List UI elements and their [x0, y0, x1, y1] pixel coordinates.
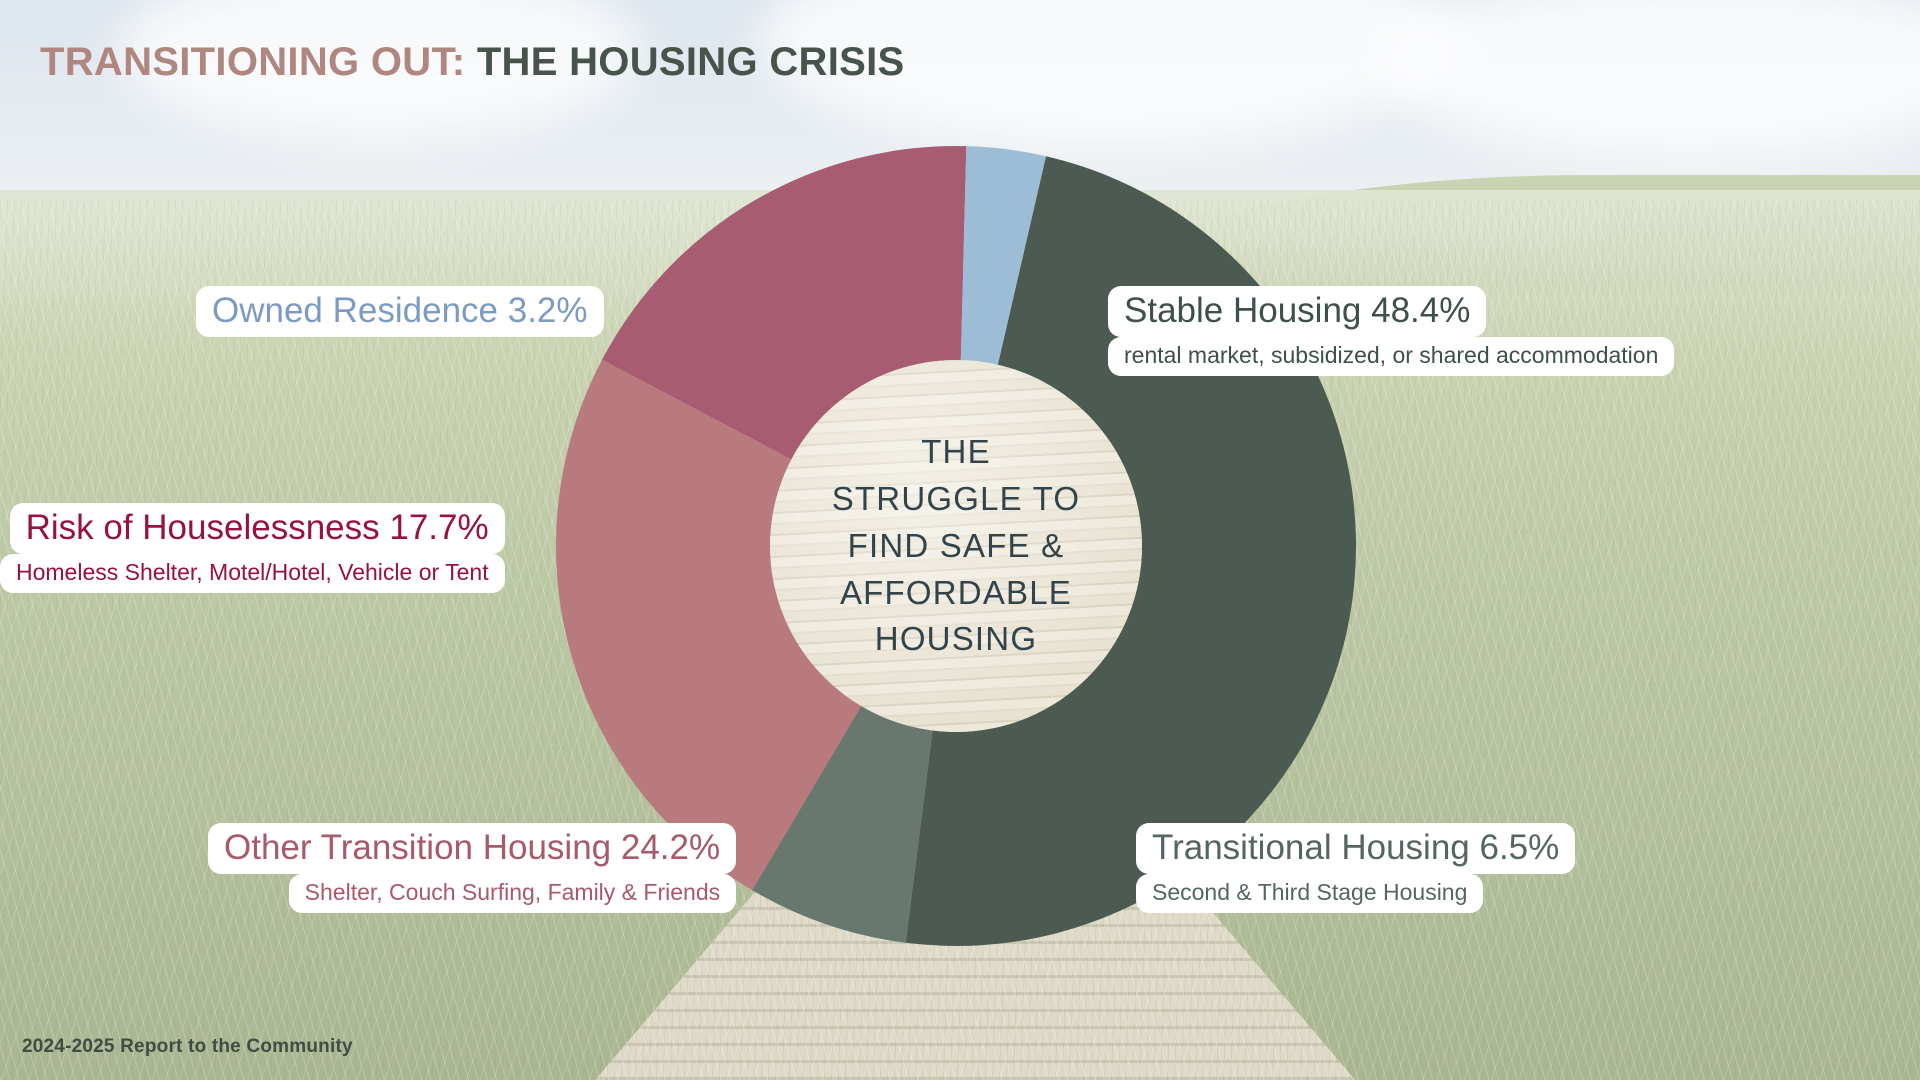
infographic-canvas: TRANSITIONING OUT: THE HOUSING CRISIS TH… [0, 0, 1920, 1080]
callout-risk-of-houselessness: Risk of Houselessness 17.7% Homeless She… [0, 503, 505, 593]
center-line-1: THE [786, 429, 1126, 476]
center-line-5: HOUSING [786, 616, 1126, 663]
callout-owned-main: Owned Residence 3.2% [196, 286, 604, 337]
callout-transitional-housing: Transitional Housing 6.5% Second & Third… [1136, 823, 1575, 913]
footer-note: 2024-2025 Report to the Community [22, 1036, 353, 1058]
callout-other-main: Other Transition Housing 24.2% [208, 823, 736, 874]
callout-other-sub: Shelter, Couch Surfing, Family & Friends [289, 874, 736, 913]
callout-stable-main: Stable Housing 48.4% [1108, 286, 1486, 337]
callout-stable-housing: Stable Housing 48.4% rental market, subs… [1108, 286, 1674, 376]
page-title: TRANSITIONING OUT: THE HOUSING CRISIS [40, 40, 904, 85]
center-caption: THE STRUGGLE TO FIND SAFE & AFFORDABLE H… [786, 429, 1126, 663]
center-line-2: STRUGGLE TO [786, 476, 1126, 523]
callout-transitional-main: Transitional Housing 6.5% [1136, 823, 1575, 874]
center-line-3: FIND SAFE & [786, 523, 1126, 570]
callout-risk-sub: Homeless Shelter, Motel/Hotel, Vehicle o… [0, 554, 505, 593]
title-part-a: TRANSITIONING OUT: [40, 40, 465, 84]
callout-owned-residence: Owned Residence 3.2% [196, 286, 604, 337]
callout-transitional-sub: Second & Third Stage Housing [1136, 874, 1483, 913]
callout-risk-main: Risk of Houselessness 17.7% [10, 503, 505, 554]
center-line-4: AFFORDABLE [786, 569, 1126, 616]
callout-stable-sub: rental market, subsidized, or shared acc… [1108, 337, 1674, 376]
title-part-b: THE HOUSING CRISIS [477, 40, 905, 84]
callout-other-transition-housing: Other Transition Housing 24.2% Shelter, … [208, 823, 736, 913]
